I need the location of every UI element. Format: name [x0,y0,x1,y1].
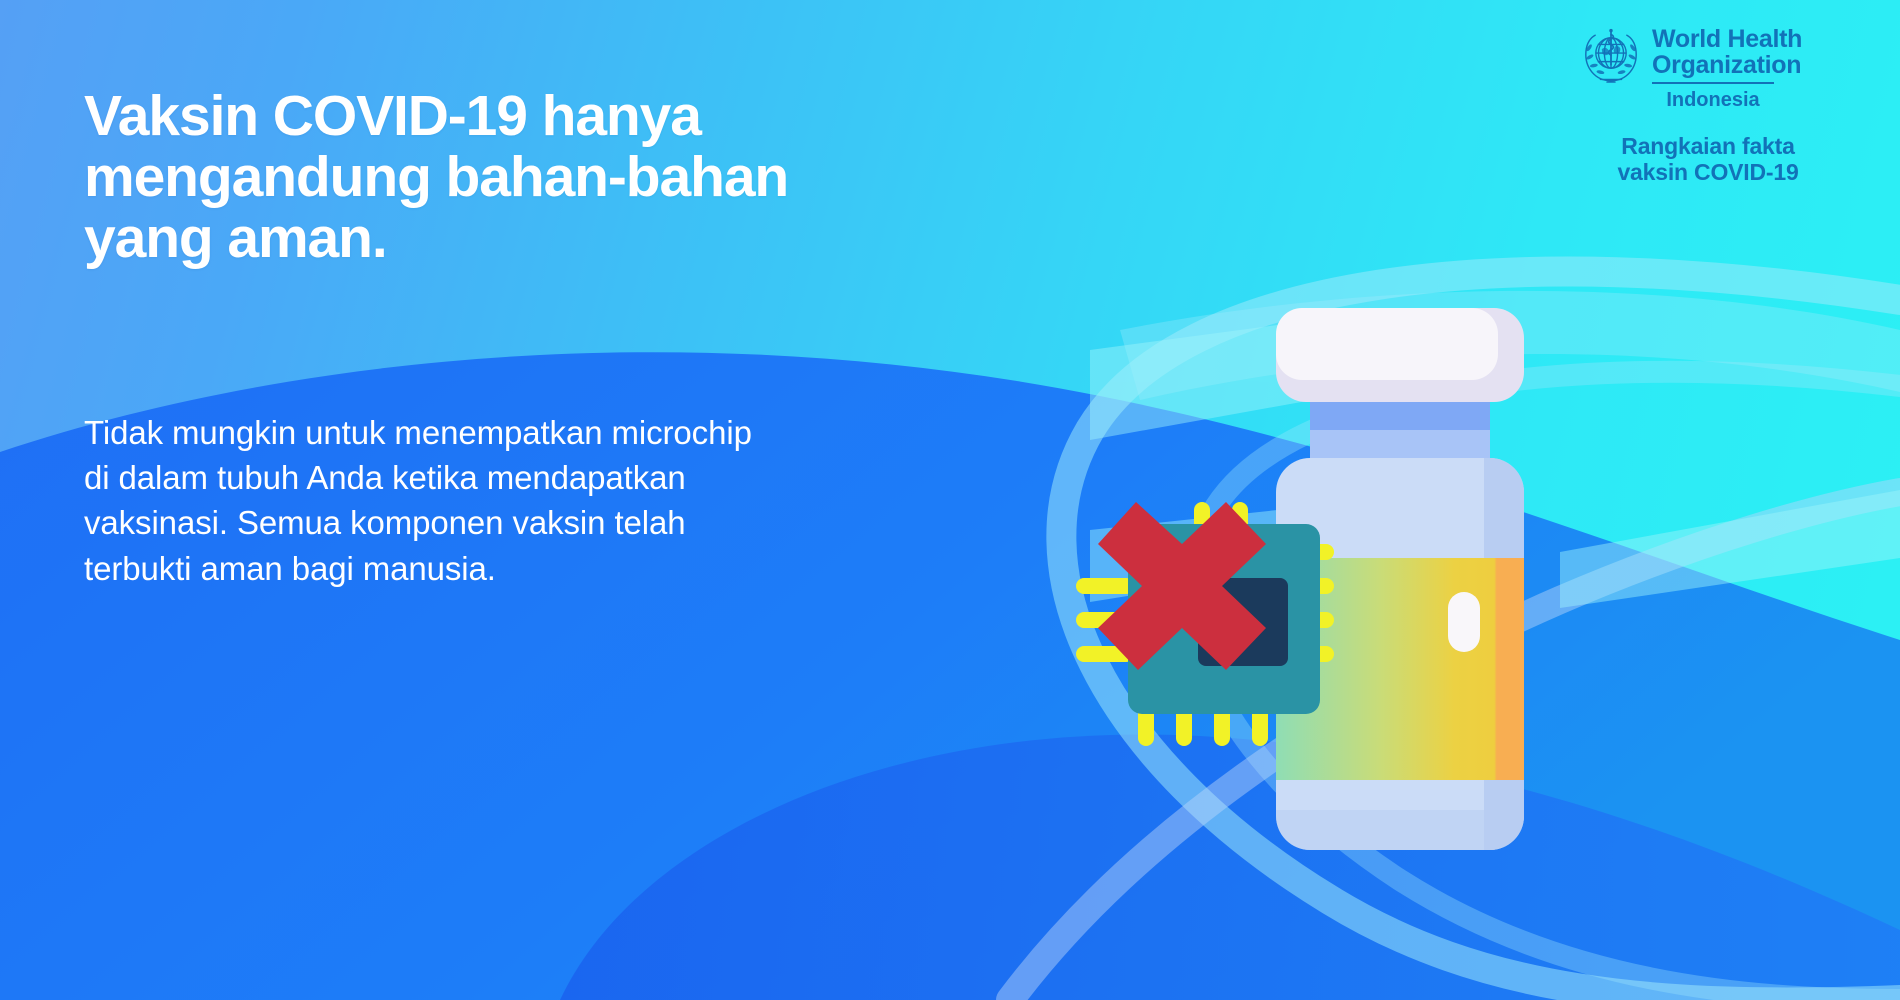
vial-highlight [1448,592,1480,652]
body-line-2: di dalam tubuh Anda ketika mendapatkan [84,455,864,500]
body-line-4: terbukti aman bagi manusia. [84,546,864,591]
body-line-3: vaksinasi. Semua komponen vaksin telah [84,500,864,545]
illustration-group [1090,290,1900,1000]
who-wordmark: World Health Organization Indonesia [1652,24,1802,112]
who-org-line-2: Organization [1652,52,1802,78]
vial-neck-shade [1310,430,1490,458]
who-logo-row: World Health Organization Indonesia [1578,24,1838,112]
tagline-line-2: vaksin COVID-19 [1578,160,1838,186]
body-line-1: Tidak mungkin untuk menempatkan microchi… [84,410,864,455]
tagline-line-1: Rangkaian fakta [1578,134,1838,160]
who-branding: World Health Organization Indonesia Rang… [1578,24,1838,186]
headline-line-2: mengandung bahan-bahan [84,147,964,208]
who-emblem-icon [1578,24,1644,90]
headline-line-1: Vaksin COVID-19 hanya [84,86,964,147]
headline-line-3: yang aman. [84,208,964,269]
vial-cap [1276,308,1498,380]
who-org-line-1: World Health [1652,26,1802,52]
body-copy: Tidak mungkin untuk menempatkan microchi… [84,410,864,591]
headline: Vaksin COVID-19 hanya mengandung bahan-b… [84,86,964,269]
series-tagline: Rangkaian fakta vaksin COVID-19 [1578,134,1838,186]
poster-canvas: World Health Organization Indonesia Rang… [0,0,1900,1000]
who-country-label: Indonesia [1652,88,1774,112]
vial-bottom-shade [1276,810,1524,850]
who-divider-rule [1652,82,1774,84]
